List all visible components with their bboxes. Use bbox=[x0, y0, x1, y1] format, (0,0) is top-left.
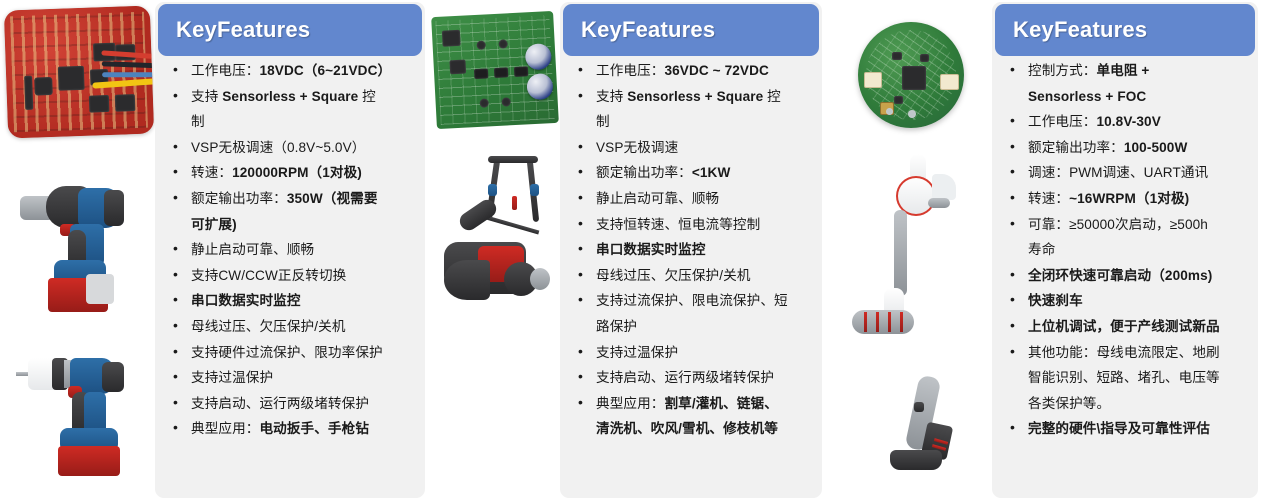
feature-item: 各类保护等。 bbox=[1006, 391, 1254, 417]
panel-3-header-label: KeyFeatures bbox=[1013, 17, 1147, 43]
feature-text-strong: 10.8V-30V bbox=[1096, 114, 1160, 129]
feature-text: 工作电压： bbox=[191, 63, 259, 78]
feature-item: 全闭环快速可靠启动（200ms) bbox=[1006, 263, 1254, 289]
feature-text-strong: 快速刹车 bbox=[1028, 293, 1083, 308]
feature-text: VSP无极调速 bbox=[596, 140, 678, 155]
feature-item: 静止启动可靠、顺畅 bbox=[574, 186, 818, 212]
feature-text: 额定输出功率： bbox=[1028, 140, 1124, 155]
feature-text: 控制方式： bbox=[1028, 63, 1096, 78]
feature-text: 工作电压： bbox=[596, 63, 664, 78]
feature-text: 调速：PWM调速、UART通讯 bbox=[1028, 165, 1208, 180]
feature-text-strong: Sensorless + Square bbox=[222, 89, 358, 104]
feature-text-strong: 单电阻 + bbox=[1096, 63, 1149, 78]
feature-item: 寿命 bbox=[1006, 237, 1254, 263]
feature-panel-1: KeyFeatures 工作电压：18VDC（6~21VDC）支持 Sensor… bbox=[155, 2, 425, 498]
feature-item: 支持 Sensorless + Square 控 bbox=[169, 84, 419, 110]
feature-item: 支持启动、运行两级堵转保护 bbox=[574, 365, 818, 391]
feature-text: 控 bbox=[763, 89, 781, 104]
feature-item: 支持过流保护、限电流保护、短 bbox=[574, 288, 818, 314]
feature-item: 完整的硬件\指导及可靠性评估 bbox=[1006, 416, 1254, 442]
feature-text: 支持硬件过流保护、限功率保护 bbox=[191, 345, 383, 360]
panel-2-header-label: KeyFeatures bbox=[581, 17, 715, 43]
feature-text-strong: 割草/灌机、链锯、 bbox=[664, 396, 777, 411]
feature-text-strong: Sensorless + FOC bbox=[1028, 89, 1146, 104]
feature-text: 母线过压、欠压保护/关机 bbox=[596, 268, 751, 283]
stick-vacuum-photo bbox=[840, 148, 976, 348]
feature-item: 支持硬件过流保护、限功率保护 bbox=[169, 340, 419, 366]
feature-item: 额定输出功率：<1KW bbox=[574, 160, 818, 186]
feature-text-strong: 全闭环快速可靠启动（200ms) bbox=[1028, 268, 1212, 283]
feature-item: 支持恒转速、恒电流等控制 bbox=[574, 212, 818, 238]
feature-item: 调速：PWM调速、UART通讯 bbox=[1006, 160, 1254, 186]
feature-panel-2: KeyFeatures 工作电压：36VDC ~ 72VDC支持 Sensorl… bbox=[560, 2, 822, 498]
feature-text: 支持 bbox=[191, 89, 222, 104]
snow-blower-photo bbox=[430, 150, 564, 320]
feature-text: 支持启动、运行两级堵转保护 bbox=[191, 396, 369, 411]
feature-item: 制 bbox=[574, 109, 818, 135]
feature-item: 支持启动、运行两级堵转保护 bbox=[169, 391, 419, 417]
panel-1-header: KeyFeatures bbox=[158, 4, 422, 56]
feature-item: 转速：120000RPM（1对极) bbox=[169, 160, 419, 186]
panel-2-header: KeyFeatures bbox=[563, 4, 819, 56]
feature-item: 串口数据实时监控 bbox=[169, 288, 419, 314]
feature-text: 支持过温保护 bbox=[191, 370, 273, 385]
feature-item: 串口数据实时监控 bbox=[574, 237, 818, 263]
feature-text: 路保护 bbox=[596, 319, 637, 334]
feature-text: 控 bbox=[358, 89, 376, 104]
feature-item: VSP无极调速（0.8V~5.0V） bbox=[169, 135, 419, 161]
panel-2-feature-list: 工作电压：36VDC ~ 72VDC支持 Sensorless + Square… bbox=[574, 58, 818, 442]
feature-text-strong: 清洗机、吹风/雪机、修枝机等 bbox=[596, 421, 778, 436]
feature-text-strong: 上位机调试，便于产线测试新品 bbox=[1028, 319, 1220, 334]
red-pcb-photo bbox=[6, 8, 152, 136]
feature-text: 支持启动、运行两级堵转保护 bbox=[596, 370, 774, 385]
panel-3-feature-list: 控制方式：单电阻 +Sensorless + FOC工作电压：10.8V-30V… bbox=[1006, 58, 1254, 442]
feature-text: 支持恒转速、恒电流等控制 bbox=[596, 217, 760, 232]
feature-text: 可靠：≥50000次启动，≥500h bbox=[1028, 217, 1208, 232]
feature-text: VSP无极调速（0.8V~5.0V） bbox=[191, 140, 365, 155]
feature-item: 工作电压：36VDC ~ 72VDC bbox=[574, 58, 818, 84]
feature-item: 支持CW/CCW正反转切换 bbox=[169, 263, 419, 289]
feature-text: 制 bbox=[596, 114, 610, 129]
feature-item: 工作电压：10.8V-30V bbox=[1006, 109, 1254, 135]
feature-item: 可靠：≥50000次启动，≥500h bbox=[1006, 212, 1254, 238]
feature-item: 典型应用：电动扳手、手枪钻 bbox=[169, 416, 419, 442]
feature-item: 上位机调试，便于产线测试新品 bbox=[1006, 314, 1254, 340]
feature-item: 额定输出功率：100-500W bbox=[1006, 135, 1254, 161]
feature-item: 控制方式：单电阻 + bbox=[1006, 58, 1254, 84]
feature-text-strong: Sensorless + Square bbox=[627, 89, 763, 104]
feature-text-strong: 串口数据实时监控 bbox=[596, 242, 706, 257]
feature-item: 静止启动可靠、顺畅 bbox=[169, 237, 419, 263]
feature-text: 典型应用： bbox=[596, 396, 664, 411]
feature-text: 支持过流保护、限电流保护、短 bbox=[596, 293, 788, 308]
feature-text-strong: 可扩展) bbox=[191, 217, 237, 232]
feature-text: 其他功能：母线电流限定、地刷 bbox=[1028, 345, 1220, 360]
feature-text-strong: 18VDC（6~21VDC） bbox=[259, 63, 391, 78]
feature-text-strong: 完整的硬件\指导及可靠性评估 bbox=[1028, 421, 1210, 436]
feature-text-strong: 电动扳手、手枪钻 bbox=[259, 421, 369, 436]
feature-text: 支持CW/CCW正反转切换 bbox=[191, 268, 346, 283]
feature-item: 智能识别、短路、堵孔、电压等 bbox=[1006, 365, 1254, 391]
feature-text: 制 bbox=[191, 114, 205, 129]
feature-item: 其他功能：母线电流限定、地刷 bbox=[1006, 340, 1254, 366]
feature-text: 转速： bbox=[191, 165, 232, 180]
panel-1-header-label: KeyFeatures bbox=[176, 17, 310, 43]
feature-text-strong: 36VDC ~ 72VDC bbox=[664, 63, 768, 78]
feature-text-strong: <1KW bbox=[692, 165, 731, 180]
feature-text: 支持 bbox=[596, 89, 627, 104]
feature-item: Sensorless + FOC bbox=[1006, 84, 1254, 110]
round-green-pcb-photo bbox=[858, 22, 964, 128]
feature-text: 工作电压： bbox=[1028, 114, 1096, 129]
feature-text: 智能识别、短路、堵孔、电压等 bbox=[1028, 370, 1220, 385]
slide-canvas: KeyFeatures 工作电压：18VDC（6~21VDC）支持 Sensor… bbox=[0, 0, 1261, 504]
feature-text-strong: 120000RPM（1对极) bbox=[232, 165, 362, 180]
feature-item: 清洗机、吹风/雪机、修枝机等 bbox=[574, 416, 818, 442]
feature-text-strong: ~16WRPM（1对极) bbox=[1069, 191, 1189, 206]
feature-text-strong: 串口数据实时监控 bbox=[191, 293, 301, 308]
feature-text-strong: 350W（视需要 bbox=[287, 191, 378, 206]
feature-text: 额定输出功率： bbox=[596, 165, 692, 180]
impact-wrench-photo bbox=[12, 168, 140, 314]
green-pcb-photo bbox=[434, 14, 556, 126]
feature-text-strong: 100-500W bbox=[1124, 140, 1188, 155]
feature-item: 工作电压：18VDC（6~21VDC） bbox=[169, 58, 419, 84]
feature-item: 快速刹车 bbox=[1006, 288, 1254, 314]
feature-item: 额定输出功率：350W（视需要 bbox=[169, 186, 419, 212]
feature-item: 支持 Sensorless + Square 控 bbox=[574, 84, 818, 110]
feature-text: 支持过温保护 bbox=[596, 345, 678, 360]
feature-text: 静止启动可靠、顺畅 bbox=[191, 242, 314, 257]
feature-text: 典型应用： bbox=[191, 421, 259, 436]
feature-item: 支持过温保护 bbox=[169, 365, 419, 391]
feature-text: 寿命 bbox=[1028, 242, 1055, 257]
feature-text: 静止启动可靠、顺畅 bbox=[596, 191, 719, 206]
panel-1-feature-list: 工作电压：18VDC（6~21VDC）支持 Sensorless + Squar… bbox=[169, 58, 419, 442]
feature-item: VSP无极调速 bbox=[574, 135, 818, 161]
feature-item: 转速：~16WRPM（1对极) bbox=[1006, 186, 1254, 212]
cordless-drill-photo bbox=[10, 336, 146, 486]
feature-text: 转速： bbox=[1028, 191, 1069, 206]
feature-item: 支持过温保护 bbox=[574, 340, 818, 366]
feature-panel-3: KeyFeatures 控制方式：单电阻 +Sensorless + FOC工作… bbox=[992, 2, 1258, 498]
panel-3-header: KeyFeatures bbox=[995, 4, 1255, 56]
feature-text: 额定输出功率： bbox=[191, 191, 287, 206]
feature-text: 母线过压、欠压保护/关机 bbox=[191, 319, 346, 334]
handheld-vacuum-photo bbox=[846, 366, 972, 492]
feature-item: 母线过压、欠压保护/关机 bbox=[574, 263, 818, 289]
feature-item: 可扩展) bbox=[169, 212, 419, 238]
feature-item: 路保护 bbox=[574, 314, 818, 340]
feature-text: 各类保护等。 bbox=[1028, 396, 1110, 411]
feature-item: 母线过压、欠压保护/关机 bbox=[169, 314, 419, 340]
feature-item: 制 bbox=[169, 109, 419, 135]
feature-item: 典型应用：割草/灌机、链锯、 bbox=[574, 391, 818, 417]
